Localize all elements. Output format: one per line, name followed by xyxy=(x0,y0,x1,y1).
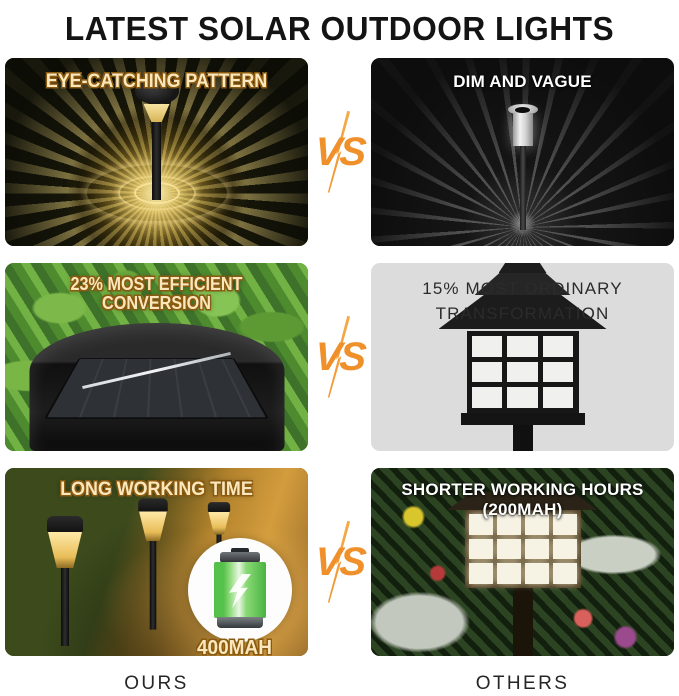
ours-panel-battery[interactable]: 400MAH LONG WORKING TIME xyxy=(5,468,308,656)
vs-label: VS xyxy=(313,132,365,172)
path-light-head-icon xyxy=(208,502,230,512)
stake-pole-icon xyxy=(152,122,161,200)
lantern-pane xyxy=(472,362,503,383)
battery-bolt-icon xyxy=(214,552,266,628)
solar-cell-icon xyxy=(44,358,269,419)
others-label: OTHERS xyxy=(371,673,674,695)
lantern-pane xyxy=(469,563,493,584)
lantern-top-cap-icon xyxy=(499,263,547,273)
stake-pole-icon xyxy=(520,146,526,230)
pagoda-lantern-icon xyxy=(433,263,613,451)
lantern-pane xyxy=(553,539,577,560)
comparison-grid: EYE-CATCHING PATTERN VS DIM AND VAGUE xyxy=(0,58,679,656)
lantern-pane xyxy=(543,362,574,383)
comparison-row-battery: 400MAH LONG WORKING TIME VS xyxy=(5,468,674,656)
lantern-pane xyxy=(525,539,549,560)
lantern-pane xyxy=(497,563,521,584)
lantern-pane xyxy=(543,387,574,408)
vs-divider-battery: VS xyxy=(309,522,371,602)
stake-lens-icon xyxy=(144,104,170,122)
solar-stake-light-icon xyxy=(135,76,179,200)
comparison-row-conversion: 23% MOST EFFICIENT CONVERSION VS xyxy=(5,263,674,451)
lantern-roof-icon xyxy=(448,492,598,510)
lantern-upper-roof-icon xyxy=(475,273,571,295)
battery-capacity-badge xyxy=(188,538,292,642)
lantern-pane xyxy=(507,387,538,408)
path-light-front-icon xyxy=(47,516,83,646)
footer-labels: OURS OTHERS xyxy=(0,673,679,695)
battery-capacity-label: 400MAH xyxy=(197,637,272,656)
path-light-glow-icon xyxy=(208,512,229,534)
vs-divider-brightness: VS xyxy=(309,112,371,192)
ours-label: OURS xyxy=(5,673,308,695)
path-light-glow-icon xyxy=(48,532,82,568)
lantern-pane xyxy=(507,362,538,383)
others-panel-conversion[interactable]: 15% MOST ORDINARY TRANSFORMATION xyxy=(371,263,674,451)
lantern-pane xyxy=(469,514,493,535)
lantern-post-icon xyxy=(513,425,533,451)
page-title: LATEST SOLAR OUTDOOR LIGHTS xyxy=(14,0,666,58)
path-light-pole-icon xyxy=(150,541,157,630)
vs-label: VS xyxy=(313,542,365,582)
vs-divider-conversion: VS xyxy=(309,317,371,397)
ours-panel-conversion[interactable]: 23% MOST EFFICIENT CONVERSION xyxy=(5,263,308,451)
lantern-pane xyxy=(469,539,493,560)
lantern-body-icon xyxy=(465,510,581,588)
ours-panel-brightness[interactable]: EYE-CATCHING PATTERN xyxy=(5,58,308,246)
others-panel-brightness[interactable]: DIM AND VAGUE xyxy=(371,58,674,246)
garden-lantern-icon xyxy=(448,492,598,656)
stake-head-icon xyxy=(135,76,179,104)
comparison-row-brightness: EYE-CATCHING PATTERN VS DIM AND VAGUE xyxy=(5,58,674,246)
lantern-pane xyxy=(497,539,521,560)
lantern-post-icon xyxy=(513,588,533,656)
lantern-pane xyxy=(472,336,503,357)
path-light-head-icon xyxy=(47,516,83,532)
solar-light-top-icon xyxy=(29,323,284,451)
battery-foot-icon xyxy=(217,617,263,628)
ordinary-stake-light-icon xyxy=(508,104,538,230)
path-light-head-icon xyxy=(138,498,168,511)
path-light-glow-icon xyxy=(139,512,167,542)
path-light-pole-icon xyxy=(61,568,69,646)
stake-cap-inner-icon xyxy=(515,107,530,113)
lantern-pane xyxy=(553,563,577,584)
lantern-body-icon xyxy=(467,331,579,413)
others-panel-battery[interactable]: SHORTER WORKING HOURS (200MAH) xyxy=(371,468,674,656)
lantern-pane xyxy=(553,514,577,535)
lantern-pane xyxy=(525,563,549,584)
lantern-pane xyxy=(525,514,549,535)
lantern-pane xyxy=(507,336,538,357)
lantern-main-roof-icon xyxy=(439,295,607,329)
path-light-mid-icon xyxy=(138,498,168,629)
lantern-pane xyxy=(497,514,521,535)
lantern-pane xyxy=(543,336,574,357)
stake-body-icon xyxy=(513,113,533,146)
vs-label: VS xyxy=(313,337,365,377)
lantern-pane xyxy=(472,387,503,408)
lantern-base-icon xyxy=(461,413,585,425)
